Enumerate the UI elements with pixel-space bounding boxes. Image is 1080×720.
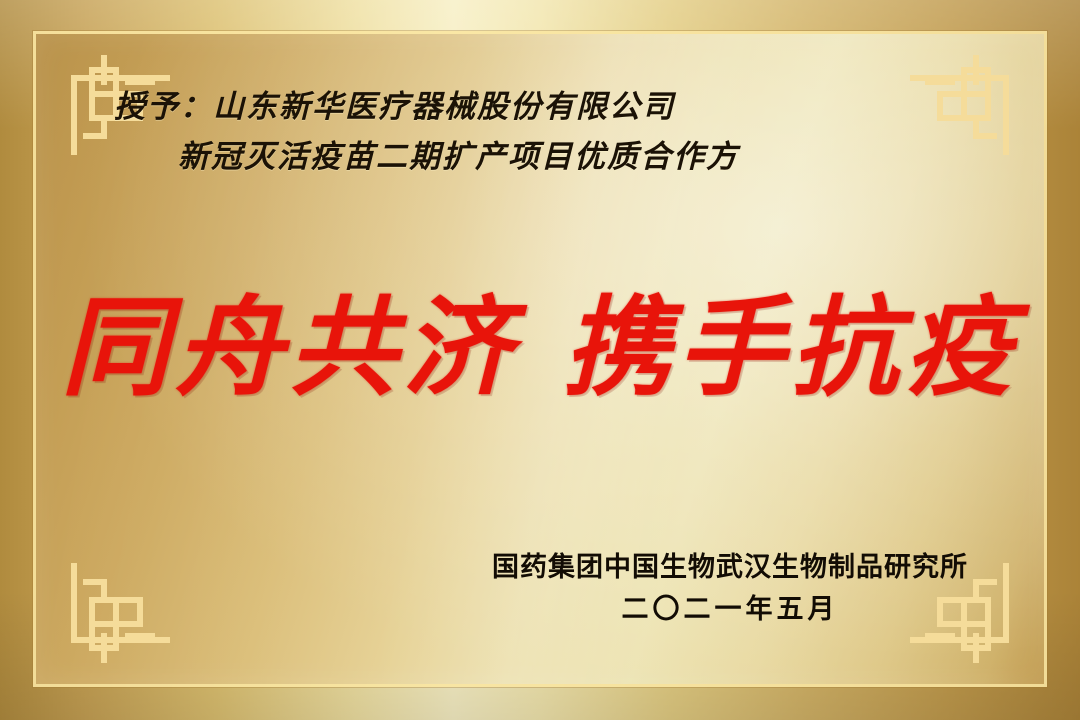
plaque-main-title: 同舟共济携手抗疫 xyxy=(36,289,1044,408)
signature-issuer: 国药集团中国生物武汉生物制品研究所 xyxy=(492,547,968,590)
award-recipient-line-2: 新冠灭活疫苗二期扩产项目优质合作方 xyxy=(114,132,974,182)
main-title-part-2: 携手抗疫 xyxy=(563,285,1019,411)
award-recipient-line-1: 授予：山东新华医疗器械股份有限公司 xyxy=(114,82,974,132)
signature-date: 二〇二一年五月 xyxy=(492,589,968,632)
award-recipient-block: 授予：山东新华医疗器械股份有限公司 新冠灭活疫苗二期扩产项目优质合作方 xyxy=(114,82,974,182)
award-plaque: 授予：山东新华医疗器械股份有限公司 新冠灭活疫苗二期扩产项目优质合作方 同舟共济… xyxy=(0,0,1080,720)
main-title-part-1: 同舟共济 xyxy=(61,285,517,411)
plaque-inner-panel: 授予：山东新华医疗器械股份有限公司 新冠灭活疫苗二期扩产项目优质合作方 同舟共济… xyxy=(36,34,1044,684)
plaque-signature-block: 国药集团中国生物武汉生物制品研究所 二〇二一年五月 xyxy=(492,547,968,632)
